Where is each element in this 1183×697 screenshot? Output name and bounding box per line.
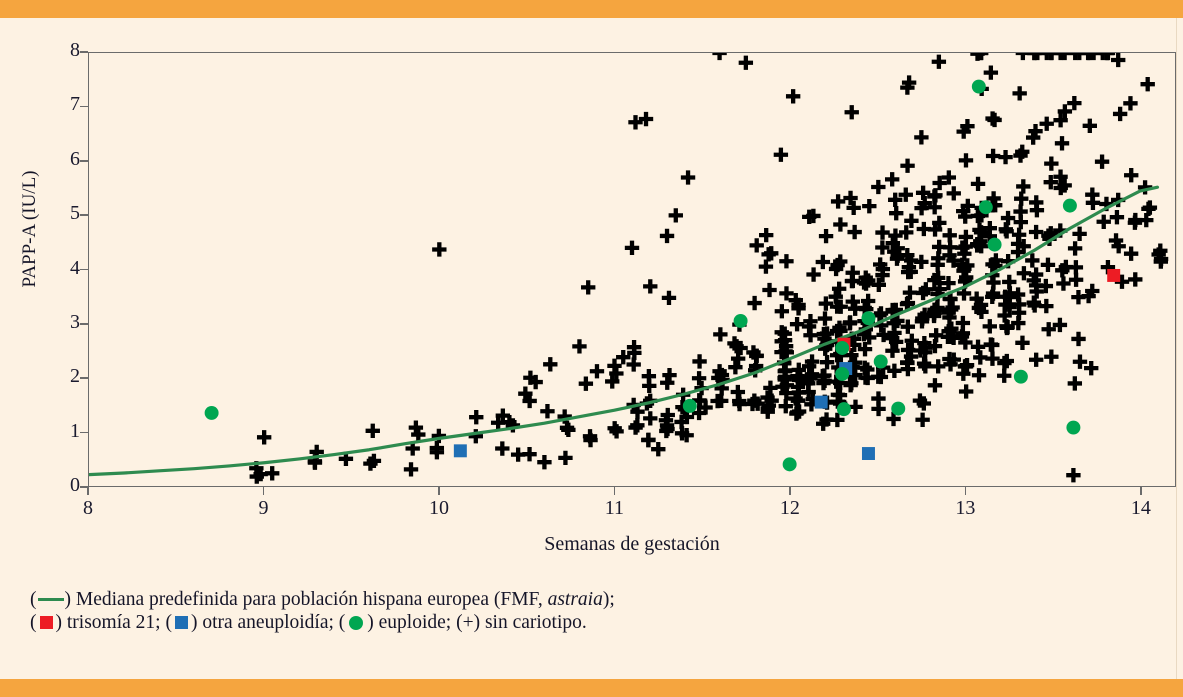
x-tick-label: 13 (943, 498, 987, 518)
scatter-marker-plus (900, 159, 914, 173)
scatter-marker-plus (779, 254, 793, 268)
scatter-marker-plus (986, 149, 1000, 163)
scatter-marker-plus (1014, 215, 1028, 229)
legend-median-text-end: ); (603, 589, 615, 610)
scatter-marker-plus (846, 266, 860, 280)
scatter-marker-plus (540, 404, 554, 418)
scatter-marker-plus (1029, 225, 1043, 239)
x-tick-mark (965, 487, 967, 495)
scatter-marker-plus (1012, 86, 1026, 100)
scatter-marker-plus (1016, 179, 1030, 193)
scatter-marker-plus (643, 279, 657, 293)
scatter-marker-plus (957, 286, 971, 300)
y-tick-mark (80, 377, 88, 379)
scatter-marker-plus (1101, 260, 1115, 274)
scatter-marker-plus (1143, 200, 1157, 214)
scatter-marker-plus (511, 447, 525, 461)
scatter-marker-plus (662, 368, 676, 382)
scatter-marker-plus (1044, 156, 1058, 170)
scatter-marker-plus (1025, 253, 1039, 267)
top-orange-band (0, 0, 1183, 18)
scatter-marker-plus (806, 267, 820, 281)
scatter-marker-plus (774, 148, 788, 162)
scatter-marker-plus (692, 354, 706, 368)
scatter-marker-plus (731, 351, 745, 365)
scatter-marker-plus (1067, 96, 1081, 110)
y-tick-mark (80, 214, 88, 216)
plot-area (88, 52, 1176, 487)
scatter-marker-plus (660, 376, 674, 390)
y-tick-label: 5 (40, 203, 80, 223)
legend-median-text: Mediana predefinida para población hispa… (71, 589, 548, 610)
scatter-marker-plus (871, 180, 885, 194)
legend-other-aneuploidy-label: ) otra aneuploidía; ( (191, 612, 345, 633)
scatter-marker-plus (786, 89, 800, 103)
scatter-marker-plus (847, 225, 861, 239)
scatter-marker-plus (557, 409, 571, 423)
scatter-marker-plus (998, 150, 1012, 164)
scatter-marker-plus (1001, 254, 1015, 268)
scatter-marker-plus (1056, 276, 1070, 290)
x-tick-label: 9 (241, 498, 285, 518)
x-tick-mark (263, 487, 265, 495)
scatter-marker-plus (607, 359, 621, 373)
scatter-marker-plus (641, 433, 655, 447)
scatter-marker-plus (712, 52, 726, 60)
x-tick-label: 14 (1119, 498, 1163, 518)
y-tick-label: 2 (40, 366, 80, 386)
x-tick-label: 8 (66, 498, 110, 518)
scatter-marker-plus (818, 311, 832, 325)
scatter-marker-plus (1040, 117, 1054, 131)
scatter-marker-plus (310, 445, 324, 459)
chart-legend: () Mediana predefinida para población hi… (30, 588, 615, 634)
y-tick-mark (80, 51, 88, 53)
scatter-marker-plus (1095, 155, 1109, 169)
scatter-marker-plus (1110, 210, 1124, 224)
scatter-marker-plus (1124, 247, 1138, 261)
y-tick-label: 1 (40, 421, 80, 441)
scatter-marker-plus (660, 229, 674, 243)
legend-open-paren-1: ( (30, 589, 37, 610)
scatter-marker-plus (366, 424, 380, 438)
scatter-marker-plus (579, 377, 593, 391)
y-tick-mark (80, 269, 88, 271)
scatter-marker-plus (713, 327, 727, 341)
figure-panel: PAPP-A (IU/L) Semanas de gestación 01234… (0, 0, 1183, 697)
scatter-marker-plus (833, 217, 847, 231)
scatter-marker-plus (662, 291, 676, 305)
scatter-marker-plus (1124, 168, 1138, 182)
scatter-marker-plus (830, 413, 844, 427)
scatter-marker-plus (625, 241, 639, 255)
scatter-marker-plus (1083, 119, 1097, 133)
scatter-marker-plus (694, 381, 708, 395)
scatter-marker-plus (1113, 107, 1127, 121)
scatter-marker-plus (1029, 353, 1043, 367)
scatter-marker-plus (590, 364, 604, 378)
legend-row-markers: () trisomía 21; () otra aneuploidía; () … (30, 611, 615, 634)
scatter-marker-plus (816, 255, 830, 269)
scatter-marker-plus (1069, 260, 1083, 274)
y-tick-label: 7 (40, 94, 80, 114)
scatter-marker-plus (959, 384, 973, 398)
scatter-marker-plus (692, 371, 706, 385)
scatter-marker-plus (681, 170, 695, 184)
scatter-marker-plus (947, 186, 961, 200)
scatter-marker-plus (1015, 336, 1029, 350)
scatter-points-layer (89, 53, 1175, 486)
scatter-marker-plus (886, 412, 900, 426)
scatter-marker-plus (831, 194, 845, 208)
x-tick-mark (614, 487, 616, 495)
scatter-marker-plus (1141, 77, 1155, 91)
scatter-marker-plus (1069, 273, 1083, 287)
y-tick-mark (80, 106, 88, 108)
legend-open-paren-2: ( (30, 612, 37, 633)
legend-trisomy21-label: ) trisomía 21; ( (56, 612, 172, 633)
y-tick-mark (80, 323, 88, 325)
scatter-marker-plus (833, 396, 847, 410)
median-line-swatch (38, 598, 64, 601)
scatter-marker-plus (1128, 216, 1142, 230)
scatter-marker-plus (1072, 227, 1086, 241)
scatter-marker-plus (1068, 376, 1082, 390)
y-tick-label: 3 (40, 312, 80, 332)
x-axis-title: Semanas de gestación (88, 533, 1176, 556)
scatter-marker-plus (495, 441, 509, 455)
scatter-marker-plus (914, 130, 928, 144)
scatter-marker-plus (1066, 468, 1080, 482)
scatter-marker-plus (915, 413, 929, 427)
scatter-marker-plus (572, 339, 586, 353)
scatter-marker-plus (1115, 275, 1129, 289)
scatter-marker-plus (432, 242, 446, 256)
x-tick-mark (87, 487, 89, 495)
scatter-marker-plus (1044, 350, 1058, 364)
scatter-marker-plus (889, 206, 903, 220)
right-edge-rule (1176, 18, 1177, 679)
scatter-marker-plus (759, 228, 773, 242)
y-tick-label: 0 (40, 475, 80, 495)
legend-astraia-italic: astraia (548, 589, 603, 610)
scatter-marker-plus (1041, 258, 1055, 272)
scatter-marker-plus (975, 82, 989, 96)
scatter-marker-plus (885, 172, 899, 186)
x-tick-mark (438, 487, 440, 495)
scatter-marker-plus (959, 153, 973, 167)
scatter-marker-plus (676, 388, 690, 402)
y-tick-mark (80, 432, 88, 434)
scatter-marker-plus (1123, 96, 1137, 110)
scatter-marker-plus (845, 105, 859, 119)
y-axis-title: PAPP-A (IU/L) (19, 99, 41, 359)
scatter-marker-plus (651, 442, 665, 456)
scatter-marker-plus (1039, 299, 1053, 313)
scatter-marker-plus (1128, 272, 1142, 286)
legend-row-median: () Mediana predefinida para población hi… (30, 588, 615, 611)
scatter-marker-plus (1097, 215, 1111, 229)
bottom-orange-band (0, 679, 1183, 697)
scatter-marker-plus (581, 280, 595, 294)
scatter-marker-plus (985, 111, 999, 125)
trisomy21-swatch (40, 616, 53, 629)
scatter-marker-plus (747, 296, 761, 310)
scatter-marker-plus (1068, 241, 1082, 255)
scatter-marker-plus (971, 177, 985, 191)
scatter-marker-plus (790, 317, 804, 331)
scatter-marker-plus (875, 225, 889, 239)
scatter-marker-plus (339, 452, 353, 466)
scatter-marker-plus (984, 65, 998, 79)
scatter-marker-plus (971, 340, 985, 354)
scatter-marker-plus (728, 360, 742, 374)
scatter-marker-plus (732, 317, 746, 331)
scatter-marker-plus (999, 224, 1013, 238)
scatter-marker-plus (643, 411, 657, 425)
scatter-marker-plus (997, 369, 1011, 383)
scatter-marker-plus (848, 400, 862, 414)
scatter-marker-plus (642, 369, 656, 383)
scatter-marker-plus (404, 462, 418, 476)
scatter-marker-plus (985, 338, 999, 352)
scatter-marker-plus (558, 451, 572, 465)
scatter-marker-plus (819, 229, 833, 243)
other-aneuploidy-swatch (175, 616, 188, 629)
scatter-marker-plus (932, 55, 946, 69)
scatter-marker-plus (1138, 180, 1152, 194)
scatter-marker-plus (1139, 213, 1153, 227)
scatter-marker-plus (1055, 136, 1069, 150)
scatter-marker-plus (560, 421, 574, 435)
scatter-marker-plus (469, 429, 483, 443)
scatter-marker-plus (862, 199, 876, 213)
scatter-marker-plus (630, 418, 644, 432)
scatter-marker-plus (759, 259, 773, 273)
y-tick-label: 4 (40, 258, 80, 278)
y-tick-label: 6 (40, 149, 80, 169)
scatter-marker-plus (543, 357, 557, 371)
scatter-marker-plus (739, 56, 753, 70)
scatter-marker-plus (669, 208, 683, 222)
y-tick-mark (80, 160, 88, 162)
scatter-marker-plus (914, 255, 928, 269)
scatter-marker-plus (469, 410, 483, 424)
scatter-marker-plus (1014, 192, 1028, 206)
scatter-marker-plus (1071, 332, 1085, 346)
scatter-marker-plus (1085, 188, 1099, 202)
scatter-marker-plus (1001, 211, 1015, 225)
scatter-marker-plus (761, 247, 775, 261)
x-tick-label: 10 (417, 498, 461, 518)
scatter-marker-plus (983, 319, 997, 333)
legend-euploid-label: ) euploide; (+) sin cariotipo. (367, 612, 586, 633)
scatter-marker-plus (762, 283, 776, 297)
x-tick-label: 12 (768, 498, 812, 518)
scatter-marker-plus (928, 378, 942, 392)
scatter-marker-plus (775, 304, 789, 318)
y-tick-label: 8 (40, 40, 80, 60)
scatter-marker-plus (257, 430, 271, 444)
scatter-marker-plus (803, 328, 817, 342)
x-tick-label: 11 (592, 498, 636, 518)
scatter-marker-plus (1011, 287, 1025, 301)
scatter-marker-plus (406, 441, 420, 455)
x-tick-mark (1140, 487, 1142, 495)
scatter-marker-plus (972, 368, 986, 382)
scatter-marker-plus (871, 402, 885, 416)
scatter-marker-plus (1030, 203, 1044, 217)
x-tick-mark (789, 487, 791, 495)
scatter-marker-plus (931, 359, 945, 373)
euploid-swatch (349, 616, 363, 630)
scatter-marker-plus (537, 455, 551, 469)
scatter-marker-plus (750, 238, 764, 252)
